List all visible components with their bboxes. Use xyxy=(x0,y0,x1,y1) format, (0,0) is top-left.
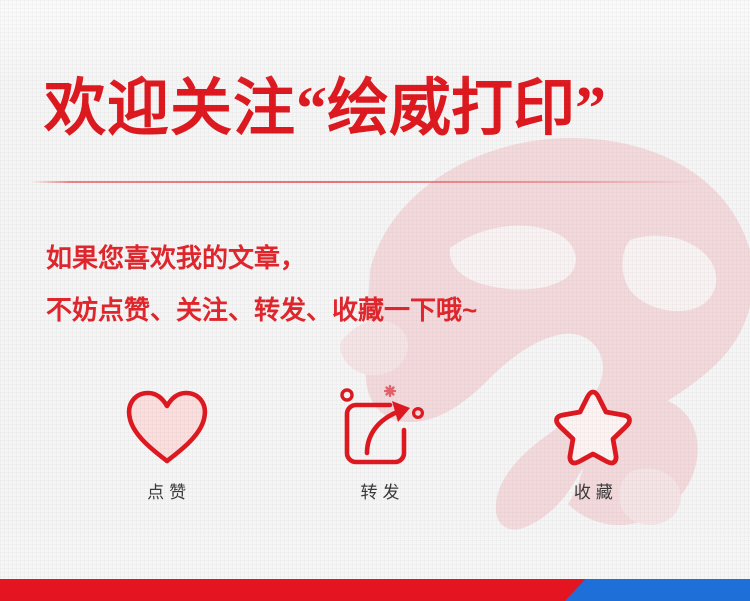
headline-prefix: 欢迎关注 xyxy=(44,74,296,143)
action-favorite-label: 收藏 xyxy=(569,478,618,503)
star-icon[interactable] xyxy=(548,382,638,474)
action-like-label: 点赞 xyxy=(142,478,191,503)
bottom-color-bar xyxy=(0,579,750,601)
bottom-bar-blue-segment xyxy=(565,579,750,601)
action-icon-row: 点赞 转发 xyxy=(60,382,700,512)
action-share[interactable]: 转发 xyxy=(273,382,486,512)
brand-name: 绘威打印 xyxy=(327,74,575,143)
page-title: 欢迎关注“绘威打印” xyxy=(44,78,606,140)
subtitle-block: 如果您喜欢我的文章， 不妨点赞、关注、转发、收藏一下哦~ xyxy=(46,232,477,336)
close-quote: ” xyxy=(575,75,606,143)
promo-poster: 欢迎关注“绘威打印” 如果您喜欢我的文章， 不妨点赞、关注、转发、收藏一下哦~ … xyxy=(0,0,750,601)
divider xyxy=(30,181,702,183)
action-favorite[interactable]: 收藏 xyxy=(487,382,700,512)
subtitle-line-2: 不妨点赞、关注、转发、收藏一下哦~ xyxy=(46,284,477,336)
action-like[interactable]: 点赞 xyxy=(60,382,273,512)
heart-icon[interactable] xyxy=(124,382,210,474)
subtitle-line-1: 如果您喜欢我的文章， xyxy=(46,232,477,284)
open-quote: “ xyxy=(296,75,327,143)
share-icon[interactable] xyxy=(334,382,426,474)
action-share-label: 转发 xyxy=(355,478,404,503)
